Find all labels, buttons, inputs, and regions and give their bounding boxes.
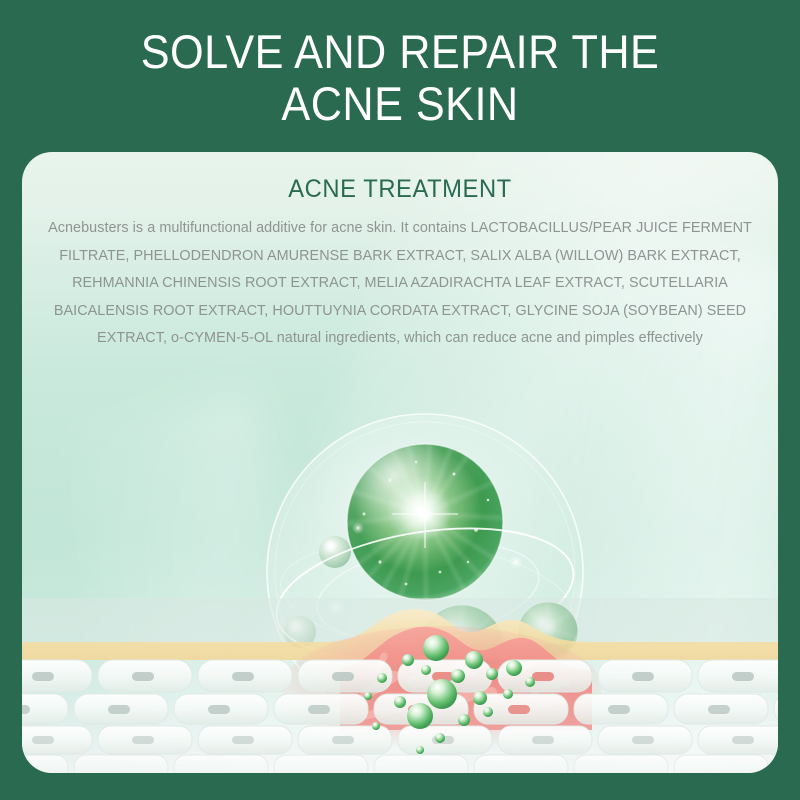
- page-title: SOLVE AND REPAIR THE ACNE SKIN: [32, 26, 768, 130]
- body-paragraph: Acnebusters is a multifunctional additiv…: [41, 215, 759, 353]
- text-block: ACNE TREATMENT Acnebusters is a multifun…: [22, 174, 778, 353]
- skin-svg: [22, 598, 778, 773]
- section-heading: ACNE TREATMENT: [41, 174, 759, 204]
- orbiting-sphere-icon: [319, 536, 351, 568]
- skin-cell-rows: [22, 660, 778, 773]
- poster-canvas: SOLVE AND REPAIR THE ACNE SKIN ACNE TREA…: [0, 0, 800, 800]
- content-card: ACNE TREATMENT Acnebusters is a multifun…: [22, 152, 778, 773]
- skin-illustration: [22, 598, 778, 773]
